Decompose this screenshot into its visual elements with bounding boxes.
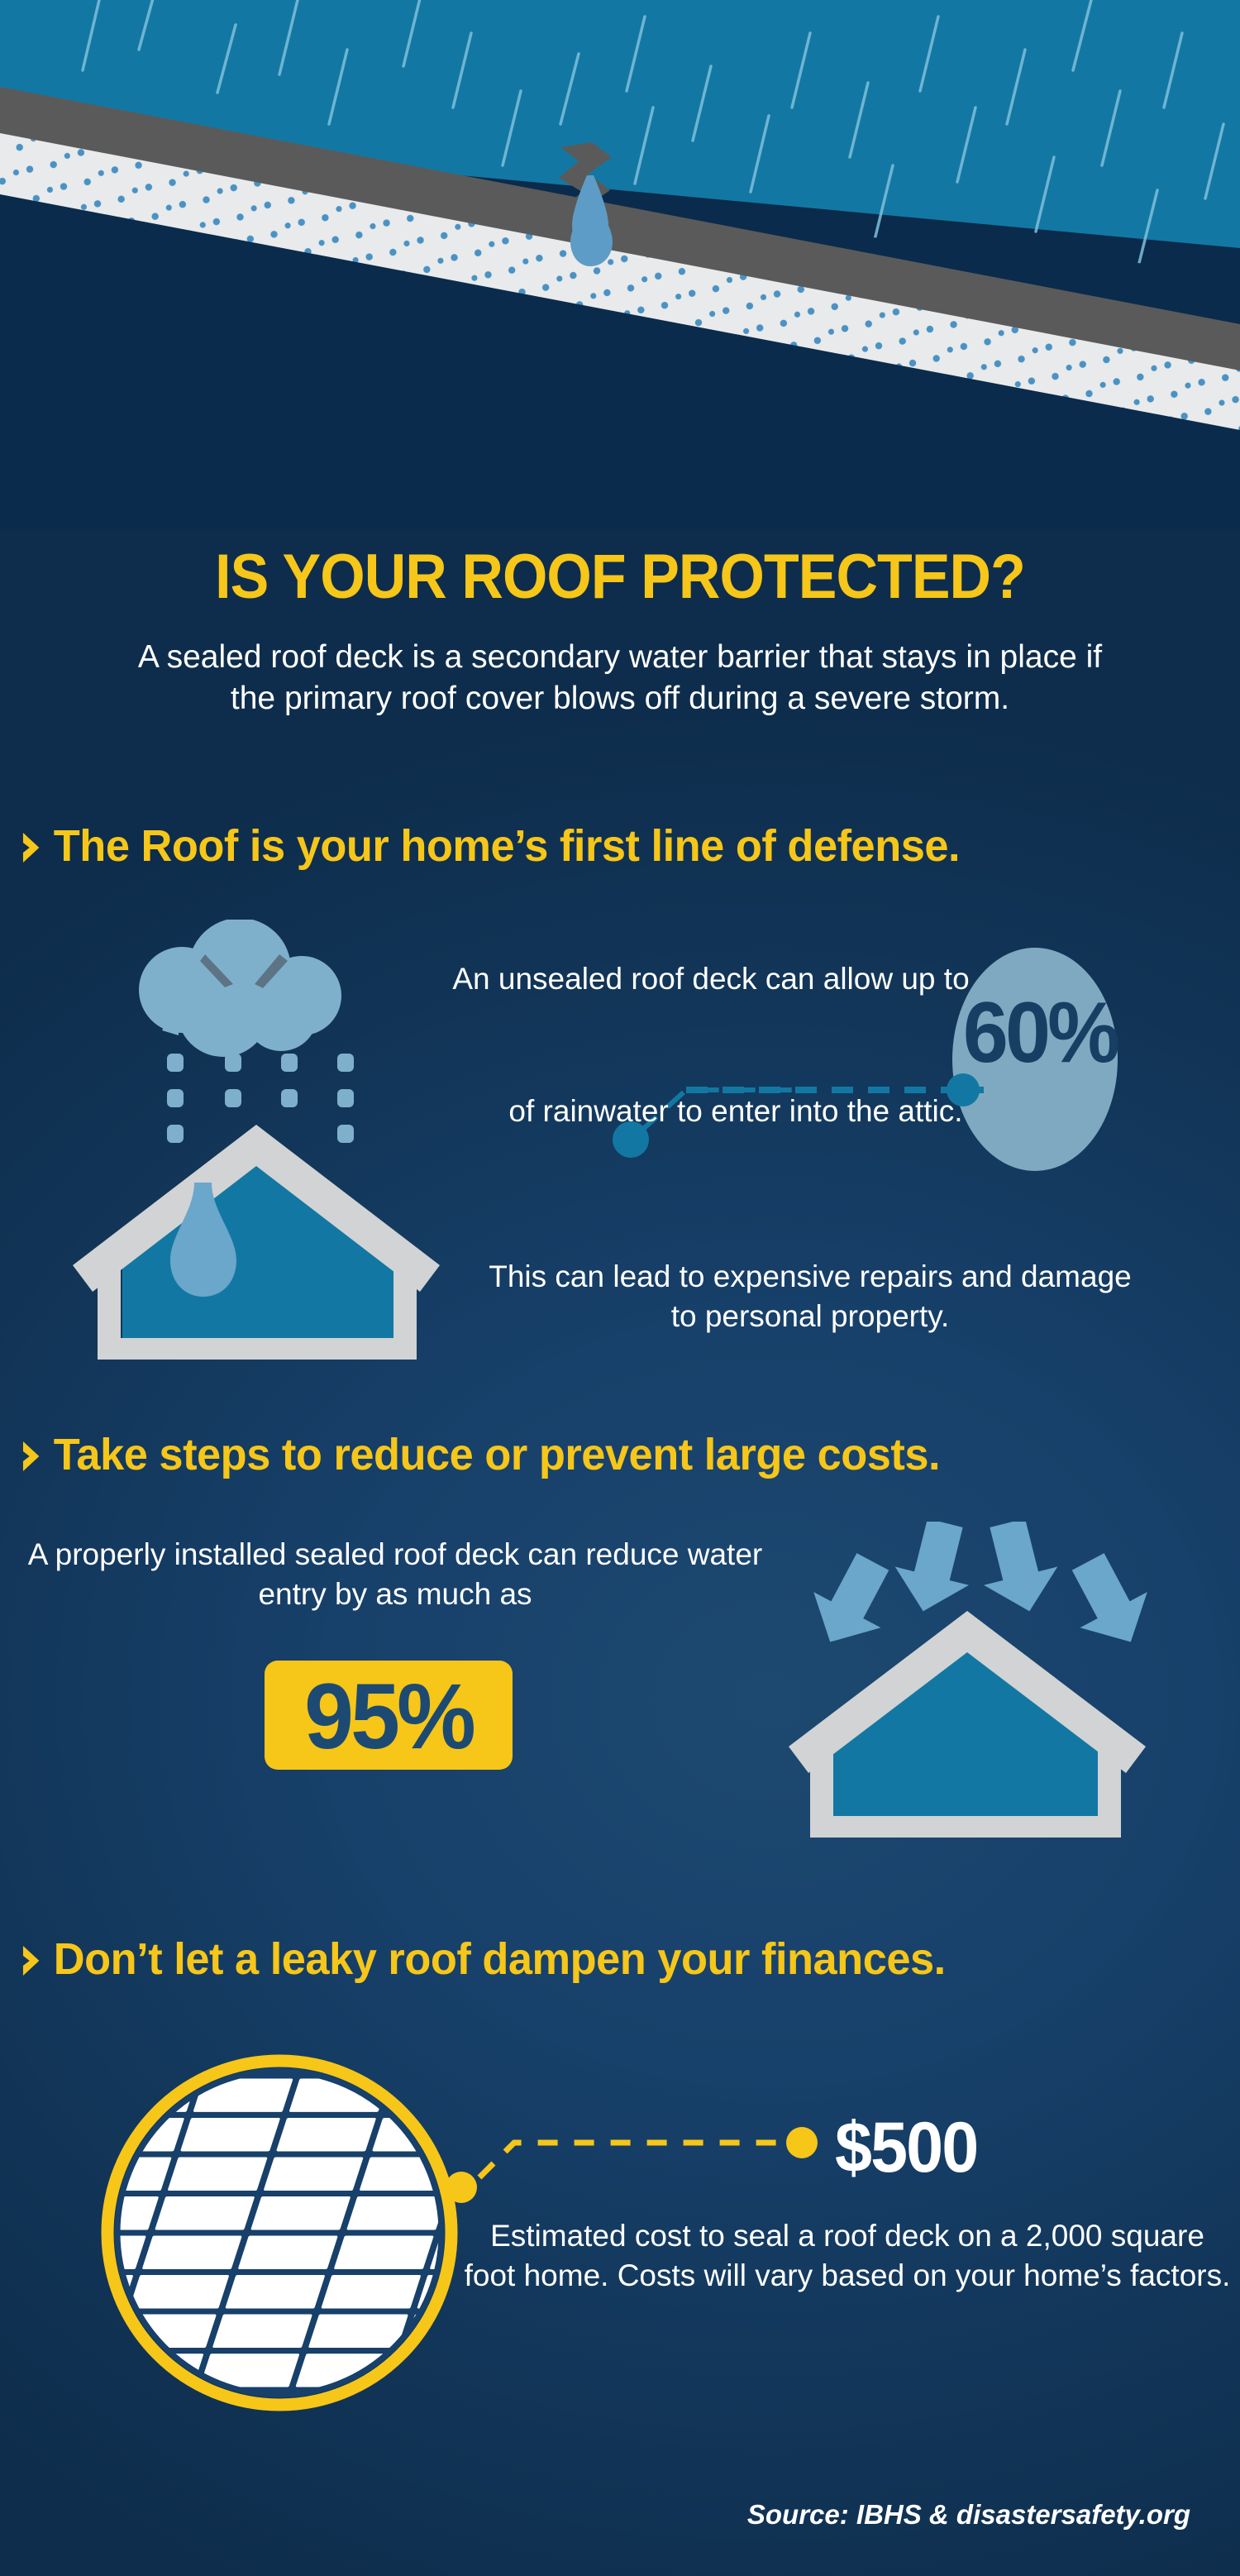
source-credit: Source: IBHS & disastersafety.org xyxy=(0,2499,1190,2531)
chevron-right-icon xyxy=(21,1944,42,1977)
section-heading-label: Don’t let a leaky roof dampen your finan… xyxy=(54,1933,946,1985)
section-heading-roof-defense: The Roof is your home’s first line of de… xyxy=(21,820,1192,872)
arrows-over-protected-house-icon xyxy=(727,1522,1240,1885)
infographic-page: IS YOUR ROOF PROTECTED? A sealed roof de… xyxy=(0,0,1240,2576)
stat-text-after-60: of rainwater to enter into the attic. xyxy=(446,1092,1025,1131)
section2-body: A properly installed sealed roof deck ca… xyxy=(23,1535,767,1614)
chevron-right-icon xyxy=(21,831,42,864)
stat-value-95: 95% xyxy=(269,1664,508,1771)
roof-cross-section-with-crack-and-rain-icon xyxy=(0,0,1240,529)
chevron-right-icon xyxy=(21,1440,42,1473)
stat-text-before-60: An unsealed roof deck can allow up to xyxy=(413,959,1009,999)
page-subtitle: A sealed roof deck is a secondary water … xyxy=(116,637,1124,719)
section-heading-finances: Don’t let a leaky roof dampen your finan… xyxy=(21,1933,1192,1985)
section-heading-label: The Roof is your home’s first line of de… xyxy=(54,820,960,872)
shingle-circle-icon xyxy=(83,2034,488,2431)
connector-line-to-500 xyxy=(438,2105,835,2212)
page-title: IS YOUR ROOF PROTECTED? xyxy=(50,546,1190,609)
section1-note: This can lead to expensive repairs and d… xyxy=(479,1257,1141,1336)
section-heading-label: Take steps to reduce or prevent large co… xyxy=(54,1429,940,1480)
stat-value-500: $500 xyxy=(835,2107,1091,2189)
section-heading-reduce-costs: Take steps to reduce or prevent large co… xyxy=(21,1429,1192,1480)
section3-body: Estimated cost to seal a roof deck on a … xyxy=(463,2216,1232,2296)
